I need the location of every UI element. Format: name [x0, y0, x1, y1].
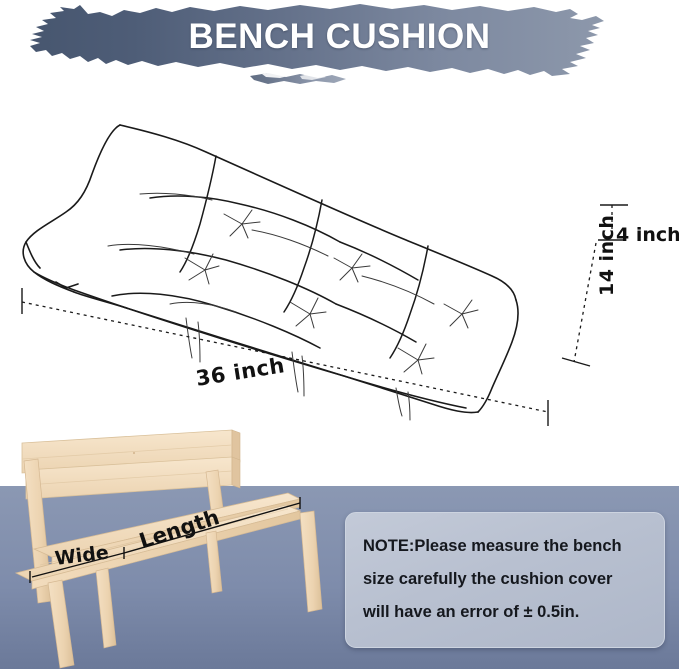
header-banner	[0, 0, 679, 105]
cushion-thickness-label: 4 inch	[616, 224, 679, 246]
cushion-dimension-lines	[22, 205, 628, 426]
note-line-1: NOTE:Please measure the bench	[363, 530, 649, 563]
cushion-tufting-seams	[112, 156, 428, 358]
note-box: NOTE:Please measure the bench size caref…	[345, 512, 665, 648]
note-line-2: size carefully the cushion cover	[363, 563, 649, 596]
cushion-tuft-buttons	[108, 193, 478, 420]
brush-stroke-shape	[30, 4, 604, 84]
cushion-width-label: 14 inch	[596, 215, 618, 296]
product-infographic: BENCH CUSHION	[0, 0, 679, 669]
note-line-3: will have an error of ± 0.5in.	[363, 596, 649, 629]
cushion-illustration	[0, 100, 679, 430]
bench-backrest	[22, 430, 240, 499]
